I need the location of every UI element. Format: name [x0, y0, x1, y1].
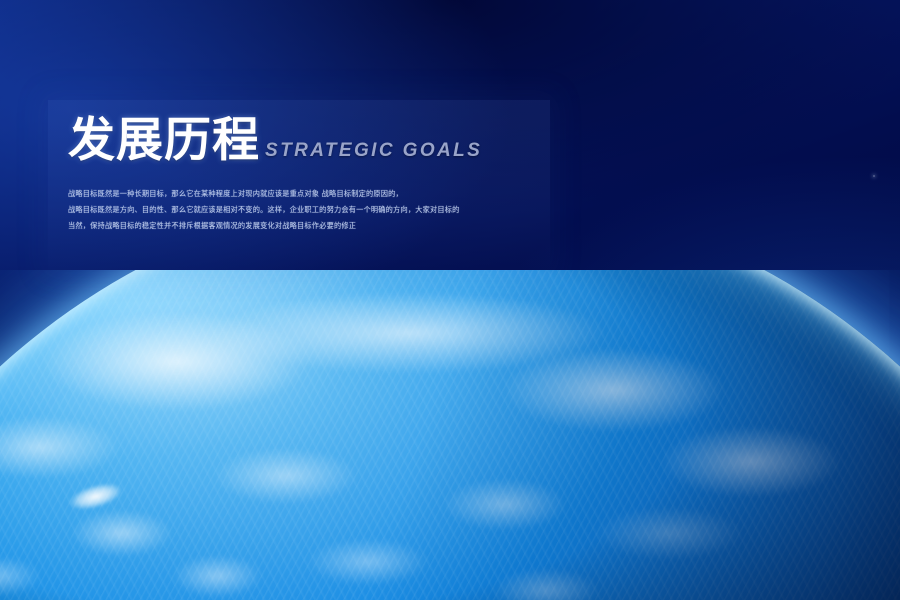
earth-illustration	[0, 270, 900, 600]
earth-limb-highlight	[0, 270, 900, 600]
page-subtitle: STRATEGIC GOALS	[265, 140, 482, 162]
star-icon	[873, 175, 874, 176]
earth-sphere	[0, 270, 900, 600]
body-line: 当然，保持战略目标的稳定性并不排斥根据客观情况的发展变化对战略目标作必要的修正	[68, 220, 523, 231]
body-line: 战略目标既然是方向、目的性、那么它就应该是相对不变的。这样，企业职工的努力会有一…	[68, 204, 523, 215]
body-line: 战略目标既然是一种长期目标，那么它在某种程度上对现内就应该是重点对象 战略目标制…	[68, 188, 523, 199]
banner-heading: 发展历程 STRATEGIC GOALS	[68, 118, 482, 165]
page-title: 发展历程	[68, 118, 260, 165]
strategic-goals-banner: 发展历程 STRATEGIC GOALS 战略目标既然是一种长期目标，那么它在某…	[0, 0, 900, 600]
banner-body-copy: 战略目标既然是一种长期目标，那么它在某种程度上对现内就应该是重点对象 战略目标制…	[68, 188, 523, 236]
